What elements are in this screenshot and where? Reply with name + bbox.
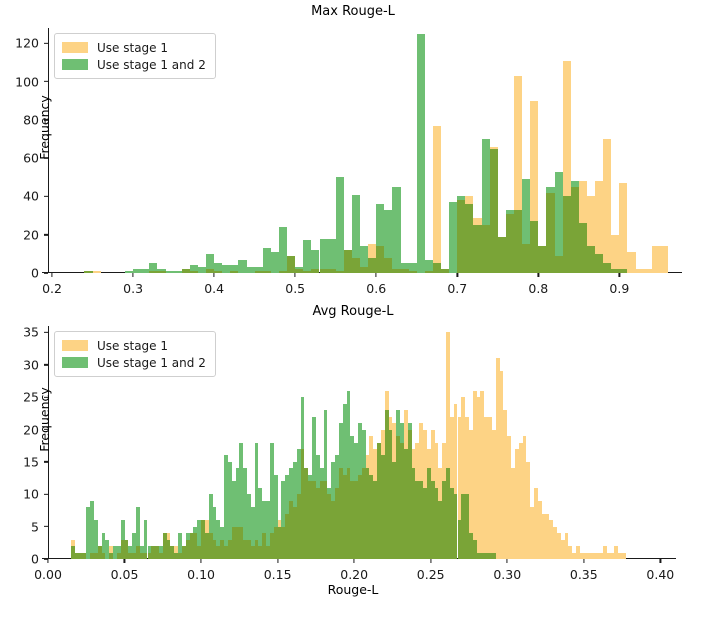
histogram-bar-overlap [506, 214, 514, 273]
histogram-bar-overlap [230, 271, 238, 273]
histogram-bar-stage1 [385, 391, 389, 410]
histogram-bar-stage1and2 [303, 240, 311, 271]
histogram-bar-stage1and2 [149, 263, 157, 271]
histogram-bar-stage1and2 [360, 246, 368, 267]
histogram-bar-overlap [376, 246, 384, 273]
histogram-bar-overlap [287, 256, 295, 273]
histogram-bar-stage1and2 [238, 260, 246, 273]
plot-area-avg: Frequency 05101520253035 0.000.050.100.1… [48, 326, 668, 559]
plot-area-max: Frequency 020406080100120 0.20.30.40.50.… [48, 28, 668, 273]
histogram-bar-stage1and2 [376, 204, 384, 246]
histogram-bar-stage1 [644, 269, 652, 273]
histogram-bar-stage1and2 [274, 475, 278, 527]
x-tick-0.4: 0.4 [204, 273, 224, 296]
histogram-bar-overlap [482, 225, 490, 273]
histogram-bar-overlap [295, 269, 303, 273]
histogram-bar-stage1 [587, 196, 595, 246]
histogram-bar-stage1 [368, 244, 376, 257]
histogram-bar-stage1 [514, 76, 522, 210]
histogram-bar-overlap [441, 269, 449, 273]
histogram-bar-stage1and2 [279, 227, 287, 271]
histogram-bar-stage1and2 [324, 410, 328, 481]
histogram-bar-overlap [182, 269, 190, 273]
histogram-bar-stage1 [622, 553, 626, 559]
histogram-bar-overlap [82, 553, 86, 559]
histogram-bar-stage1and2 [263, 248, 271, 271]
x-tick-0.3: 0.3 [123, 273, 143, 296]
y-tick-60: 60 [23, 151, 48, 166]
legend-swatch-stage1 [62, 340, 88, 351]
histogram-bar-stage1and2 [522, 179, 530, 244]
x-axis-label-avg: Rouge-L [0, 582, 706, 597]
histogram-bar-stage1 [579, 181, 587, 223]
histogram-bar-stage1and2 [174, 271, 182, 273]
histogram-bar-stage1and2 [352, 195, 360, 258]
histogram-bar-stage1 [473, 218, 481, 226]
x-tick-0.5: 0.5 [285, 273, 305, 296]
legend-row-stage1: Use stage 1 [62, 39, 206, 56]
histogram-bar-stage1and2 [482, 139, 490, 225]
histogram-bar-overlap [587, 246, 595, 273]
y-tick-100: 100 [15, 74, 48, 89]
histogram-bar-overlap [344, 250, 352, 273]
x-tick-0.20: 0.20 [340, 559, 368, 582]
y-tick-10: 10 [23, 487, 48, 502]
histogram-bar-overlap [571, 187, 579, 273]
x-tick-0.7: 0.7 [447, 273, 467, 296]
histogram-bar-overlap [84, 271, 92, 273]
histogram-bar-overlap [522, 244, 530, 273]
histogram-bar-stage1and2 [320, 239, 328, 270]
histogram-bar-overlap [401, 269, 409, 273]
figure-root: Max Rouge-L Frequency 020406080100120 0.… [0, 0, 706, 618]
histogram-bar-overlap [433, 263, 441, 273]
legend-row-stage1and2: Use stage 1 and 2 [62, 56, 206, 73]
histogram-bar-stage1and2 [136, 507, 140, 546]
histogram-bar-stage1 [595, 181, 603, 254]
y-tick-40: 40 [23, 189, 48, 204]
histogram-bar-stage1and2 [166, 271, 174, 273]
x-tick-0.25: 0.25 [417, 559, 445, 582]
histogram-bar-overlap [336, 271, 344, 273]
y-tick-5: 5 [31, 519, 48, 534]
histogram-bar-stage1and2 [121, 520, 125, 539]
histogram-bar-overlap [546, 193, 554, 273]
histogram-bar-overlap [206, 269, 214, 273]
x-tick-0.9: 0.9 [609, 273, 629, 296]
histogram-bar-stage1and2 [328, 239, 336, 270]
histogram-bar-stage1and2 [271, 252, 279, 273]
x-tick-0.8: 0.8 [528, 273, 548, 296]
histogram-bar-stage1 [619, 183, 627, 269]
histogram-bar-stage1and2 [133, 269, 141, 273]
histogram-bar-stage1and2 [206, 254, 214, 269]
panel-max-rouge-l: Max Rouge-L Frequency 020406080100120 0.… [0, 0, 706, 300]
histogram-bar-overlap [392, 269, 400, 273]
histogram-bar-overlap [555, 256, 563, 273]
histogram-bar-overlap [611, 269, 619, 273]
histogram-bar-overlap [563, 196, 571, 273]
y-tick-30: 30 [23, 357, 48, 372]
histogram-bar-overlap [360, 267, 368, 273]
histogram-bar-overlap [409, 271, 417, 273]
x-tick-0.40: 0.40 [646, 559, 674, 582]
histogram-bar-overlap [190, 271, 198, 273]
histogram-bar-overlap [490, 149, 498, 273]
x-tick-0.05: 0.05 [111, 559, 139, 582]
histogram-bar-overlap [157, 271, 165, 273]
histogram-bar-overlap [579, 223, 587, 273]
histogram-bar-overlap [514, 210, 522, 273]
histogram-bar-overlap [263, 271, 271, 273]
histogram-bar-overlap [619, 269, 627, 273]
legend-swatch-stage1and2 [62, 59, 88, 70]
histogram-bar-stage1and2 [125, 271, 133, 273]
y-tick-80: 80 [23, 112, 48, 127]
histogram-bar-overlap [538, 246, 546, 273]
histogram-bar-stage1 [652, 246, 660, 273]
y-tick-15: 15 [23, 454, 48, 469]
histogram-bar-overlap [109, 553, 113, 559]
panel-avg-rouge-l: Avg Rouge-L Frequency 05101520253035 0.0… [0, 300, 706, 618]
histogram-bar-overlap [328, 269, 336, 273]
y-tick-25: 25 [23, 390, 48, 405]
histogram-bar-overlap [473, 225, 481, 273]
legend-max: Use stage 1 Use stage 1 and 2 [54, 33, 216, 79]
x-tick-0.2: 0.2 [42, 273, 62, 296]
histogram-bar-overlap [311, 269, 319, 273]
histogram-bar-stage1and2 [336, 177, 344, 271]
legend-swatch-stage1 [62, 42, 88, 53]
histogram-bar-overlap [214, 271, 222, 273]
histogram-bar-stage1and2 [222, 265, 230, 273]
x-tick-0.15: 0.15 [264, 559, 292, 582]
legend-swatch-stage1and2 [62, 357, 88, 368]
histogram-bar-stage1and2 [425, 260, 433, 271]
x-tick-0.6: 0.6 [366, 273, 386, 296]
histogram-bar-overlap [320, 269, 328, 273]
x-tick-0.10: 0.10 [187, 559, 215, 582]
histogram-bar-stage1 [465, 196, 473, 204]
legend-row-stage1and2: Use stage 1 and 2 [62, 354, 206, 371]
legend-row-stage1: Use stage 1 [62, 337, 206, 354]
histogram-bar-stage1and2 [409, 263, 417, 271]
histogram-bar-overlap [368, 258, 376, 273]
histogram-bar-stage1and2 [417, 34, 425, 273]
histogram-bar-overlap [303, 271, 311, 273]
x-tick-0.30: 0.30 [493, 559, 521, 582]
histogram-bar-overlap [352, 258, 360, 273]
histogram-bar-stage1and2 [392, 187, 400, 269]
panel-title-max: Max Rouge-L [0, 4, 706, 19]
histogram-bar-stage1and2 [449, 202, 457, 273]
histogram-bar-stage1 [93, 271, 101, 273]
histogram-bar-overlap [255, 271, 263, 273]
histogram-bar-stage1and2 [384, 210, 392, 258]
histogram-bar-overlap [384, 258, 392, 273]
histogram-bar-overlap [595, 254, 603, 273]
histogram-bar-stage1and2 [311, 250, 319, 269]
histogram-bar-stage1 [636, 269, 644, 273]
legend-label-stage1: Use stage 1 [97, 339, 168, 353]
histogram-bar-stage1and2 [214, 263, 222, 271]
histogram-bar-stage1and2 [247, 267, 255, 273]
histogram-bar-stage1and2 [141, 269, 149, 273]
histogram-bar-stage1 [563, 61, 571, 197]
histogram-bar-overlap [149, 271, 157, 273]
legend-avg: Use stage 1 Use stage 1 and 2 [54, 331, 216, 377]
y-tick-20: 20 [23, 227, 48, 242]
histogram-bar-overlap [425, 271, 433, 273]
histogram-bar-stage1 [433, 126, 441, 264]
y-tick-35: 35 [23, 325, 48, 340]
legend-label-stage1and2: Use stage 1 and 2 [97, 356, 206, 370]
histogram-bar-overlap [603, 263, 611, 273]
histogram-bar-stage1 [660, 246, 668, 273]
x-tick-0.35: 0.35 [570, 559, 598, 582]
legend-label-stage1and2: Use stage 1 and 2 [97, 58, 206, 72]
x-tick-0.00: 0.00 [34, 559, 62, 582]
y-tick-20: 20 [23, 422, 48, 437]
histogram-bar-overlap [102, 553, 106, 559]
legend-label-stage1: Use stage 1 [97, 41, 168, 55]
histogram-bar-overlap [457, 200, 465, 273]
histogram-bar-stage1 [603, 139, 611, 263]
histogram-bar-overlap [279, 271, 287, 273]
histogram-bar-overlap [492, 553, 496, 559]
histogram-bar-stage1 [611, 235, 619, 269]
histogram-bar-stage1 [530, 101, 538, 222]
histogram-bar-stage1and2 [555, 172, 563, 256]
panel-title-avg: Avg Rouge-L [0, 304, 706, 319]
y-tick-120: 120 [15, 36, 48, 51]
histogram-bar-overlap [498, 237, 506, 273]
histogram-bar-stage1 [627, 252, 635, 273]
histogram-bar-stage1and2 [198, 267, 206, 273]
histogram-bar-overlap [465, 204, 473, 273]
histogram-bar-overlap [530, 221, 538, 273]
histogram-bar-stage1and2 [301, 397, 305, 449]
